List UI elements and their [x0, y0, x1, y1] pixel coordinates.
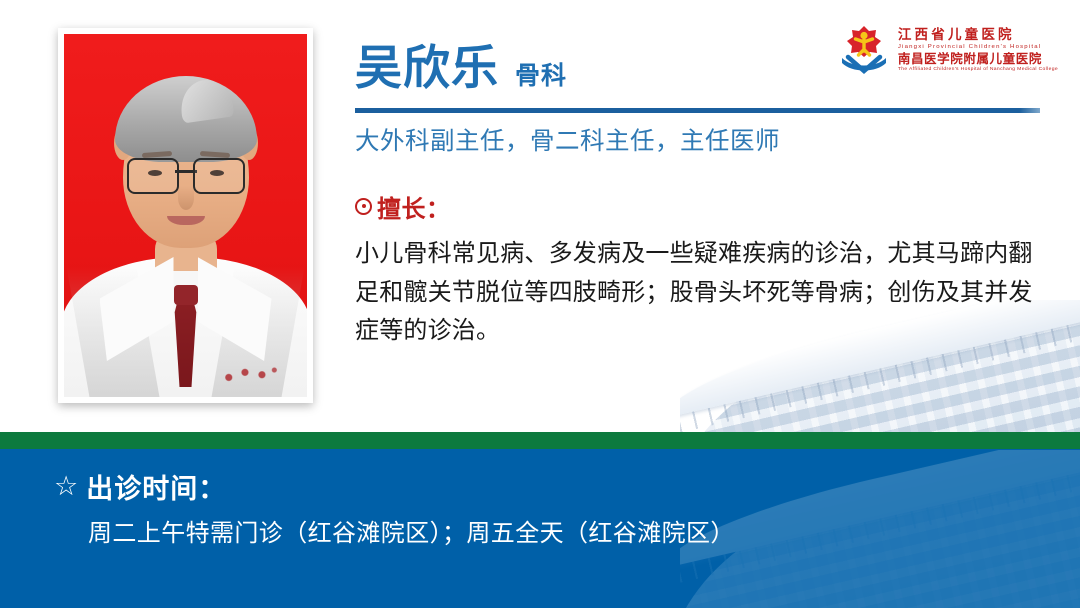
- name-row: 吴欣乐 骨科: [355, 44, 1045, 91]
- doctor-info-panel: 吴欣乐 骨科 大外科副主任，骨二科主任，主任医师 擅长： 小儿骨科常见病、多发病…: [355, 44, 1045, 351]
- star-outline-icon: ☆: [54, 473, 79, 500]
- doctor-portrait: [58, 28, 313, 403]
- schedule-heading-label: 出诊时间：: [86, 467, 226, 506]
- doctor-titles: 大外科副主任，骨二科主任，主任医师: [355, 127, 1045, 158]
- expertise-body: 小儿骨科常见病、多发病及一些疑难疾病的诊治，尤其马蹄内翻足和髋关节脱位等四肢畸形…: [355, 235, 1045, 352]
- ring-bullet-icon: [355, 198, 372, 215]
- doctor-name: 吴欣乐: [355, 44, 499, 91]
- schedule-detail: 周二上午特需门诊（红谷滩院区）；周五全天（红谷滩院区）: [88, 513, 735, 548]
- green-accent-band: [0, 432, 1080, 449]
- schedule-banner: ☆ 出诊时间： 周二上午特需门诊（红谷滩院区）；周五全天（红谷滩院区）: [0, 449, 1080, 608]
- schedule-heading: ☆ 出诊时间：: [54, 467, 226, 506]
- expertise-heading: 擅长：: [355, 189, 1045, 224]
- doctor-profile-card: 江西省儿童医院 Jiangxi Provincial Children's Ho…: [0, 0, 1080, 608]
- hospital-building-watermark-banner: [680, 450, 1080, 608]
- doctor-department: 骨科: [515, 64, 567, 89]
- hospital-name-cn-primary: 江西省儿童医院: [898, 28, 1058, 42]
- title-divider: [355, 108, 1040, 113]
- expertise-heading-label: 擅长：: [377, 189, 451, 224]
